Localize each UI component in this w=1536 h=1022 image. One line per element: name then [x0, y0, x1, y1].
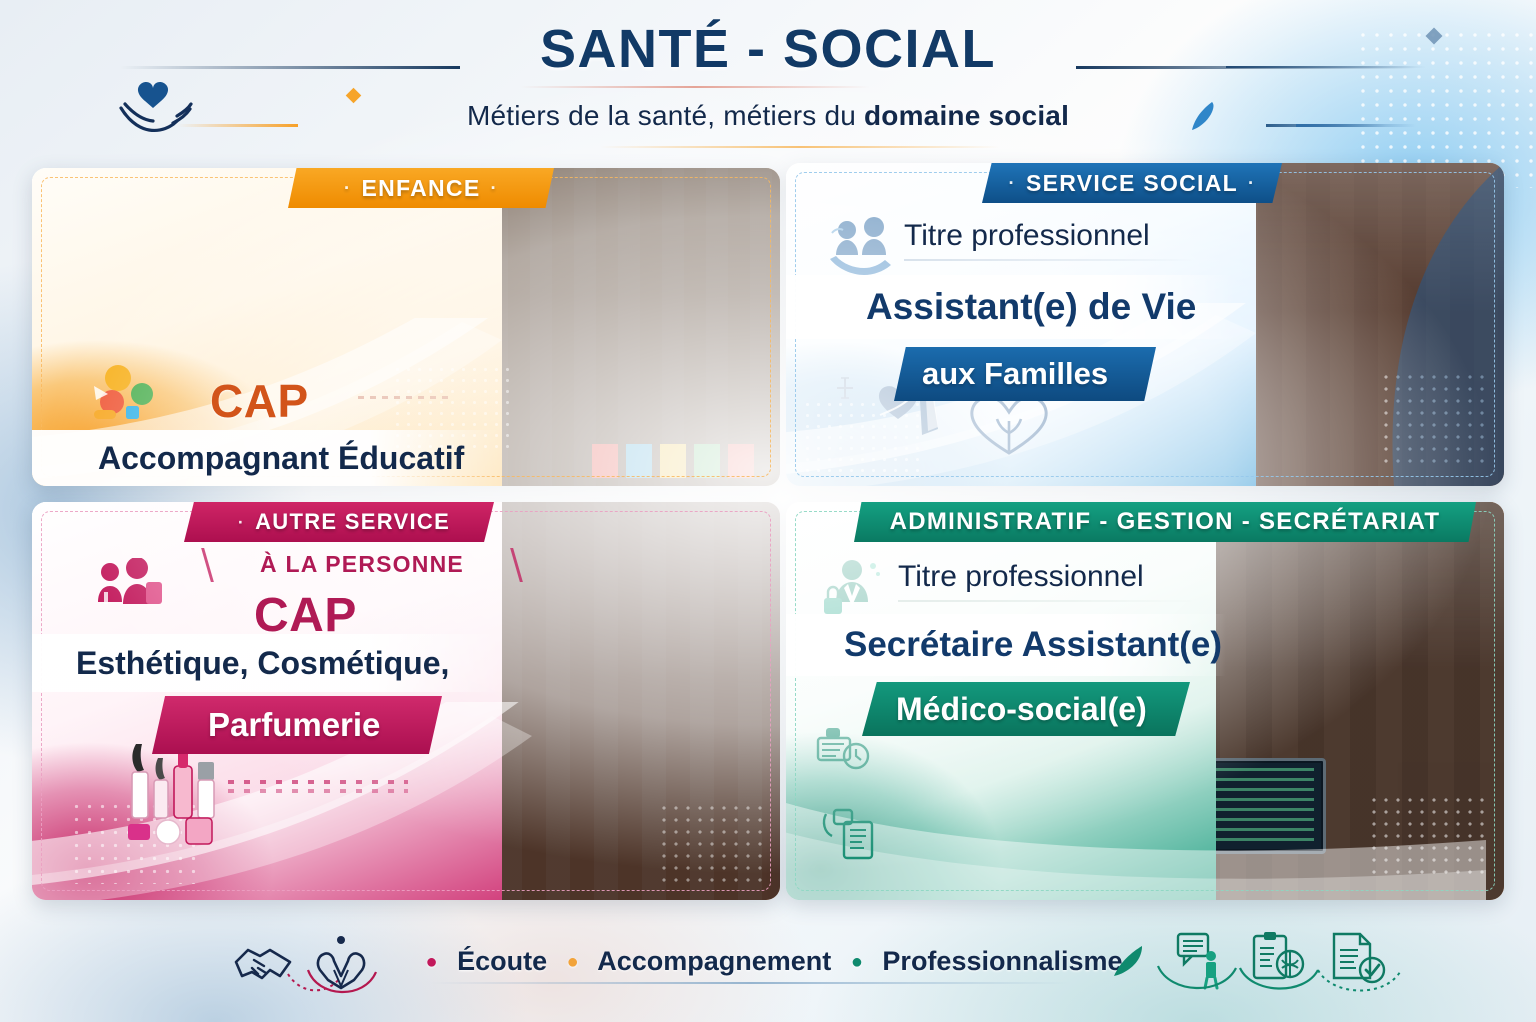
card-administratif-line1: Secrétaire Assistant(e)	[786, 625, 1222, 665]
card-autre-service-badge: · AUTRE SERVICE	[184, 502, 494, 542]
subtitle-part-1: Métiers de la santé,	[467, 100, 715, 131]
card-service-social[interactable]: · SERVICE SOCIAL ·	[786, 163, 1504, 486]
leaf-icon	[1188, 100, 1218, 134]
card-administratif-badge-label: ADMINISTRATIF - GESTION - SECRÉTARIAT	[890, 508, 1441, 536]
value-label-2: Accompagnement	[597, 946, 831, 976]
card-enfance-badge-label: ENFANCE	[361, 175, 480, 202]
value-label-1: Écoute	[457, 946, 547, 976]
leaf-icon	[1110, 944, 1146, 980]
card-service-social-badge: · SERVICE SOCIAL ·	[982, 163, 1282, 203]
card-autre-service-badge-line2-wrap: À LA PERSONNE	[212, 544, 512, 584]
poster-header: SANTÉ - SOCIAL Métiers de la santé, méti…	[0, 0, 1536, 160]
card-service-social-line1: Assistant(e) de Vie	[786, 286, 1196, 328]
care-hands-icon	[826, 215, 898, 281]
value-dot-1: ●	[425, 951, 437, 973]
badge-dot-right: ·	[1248, 172, 1255, 194]
card-autre-service-badge-label: AUTRE SERVICE	[255, 509, 450, 535]
card-autre-service-line2-slab: Parfumerie	[152, 696, 442, 754]
documents-icon	[820, 804, 882, 864]
page-title: SANTÉ - SOCIAL	[0, 18, 1536, 80]
medical-cross-icon	[832, 375, 858, 401]
card-enfance-badge: · ENFANCE ·	[288, 168, 554, 208]
card-service-social-kicker: Titre professionnel	[904, 219, 1150, 253]
card-service-social-line2: aux Familles	[894, 356, 1108, 392]
poster-footer: ● Écoute ● Accompagnement ● Professionna…	[0, 920, 1536, 1012]
card-enfance-line1: Accompagnant Éducatif	[32, 440, 464, 477]
card-administratif-line2-slab: Médico-social(e)	[862, 682, 1190, 736]
title-rule-left	[120, 66, 460, 69]
card-administratif[interactable]: ADMINISTRATIF - GESTION - SECRÉTARIAT	[786, 502, 1504, 900]
title-rule-right	[1076, 66, 1416, 69]
badge-dot-left: ·	[238, 512, 245, 533]
clipboard-health-icon	[1246, 930, 1308, 990]
subtitle-rule-left	[178, 124, 298, 127]
speech-person-icon	[1164, 930, 1226, 992]
card-service-social-badge-label: SERVICE SOCIAL	[1026, 170, 1238, 197]
card-autre-service-line2: Parfumerie	[152, 706, 380, 744]
beauty-people-icon	[92, 558, 166, 620]
subtitle-part-3: domaine social	[864, 100, 1069, 131]
subtitle-part-2: métiers du	[723, 100, 856, 131]
card-administratif-badge: ADMINISTRATIF - GESTION - SECRÉTARIAT	[854, 502, 1476, 542]
card-administratif-line2: Médico-social(e)	[862, 691, 1147, 728]
card-administratif-kicker: Titre professionnel	[898, 560, 1144, 594]
card-service-social-line1-band: Assistant(e) de Vie	[786, 275, 1236, 339]
card-autre-service-line1: Esthétique, Cosmétique,	[32, 645, 449, 682]
card-autre-service[interactable]: · AUTRE SERVICE À LA PERSONNE	[32, 502, 780, 900]
office-person-icon	[818, 556, 884, 622]
badge-dot-right: ·	[491, 177, 498, 199]
subtitle-rule-right	[1296, 124, 1416, 127]
title-accent-rule	[520, 86, 870, 88]
card-administratif-line1-band: Secrétaire Assistant(e)	[786, 614, 1226, 676]
kids-playing-icon	[92, 364, 162, 430]
value-label-3: Professionnalisme	[882, 946, 1122, 976]
card-autre-service-badge-line2: À LA PERSONNE	[260, 551, 464, 578]
card-enfance-cap: CAP	[210, 374, 309, 428]
poster-root: SANTÉ - SOCIAL Métiers de la santé, méti…	[0, 0, 1536, 1022]
card-enfance-line1-band: Accompagnant Éducatif	[32, 430, 502, 486]
card-service-social-line2-slab: aux Familles	[894, 347, 1156, 401]
badge-dot-left: ·	[1009, 172, 1016, 194]
footer-rule	[430, 982, 1070, 984]
subtitle-accent-rule	[600, 146, 1000, 148]
card-enfance[interactable]: · ENFANCE ·	[32, 168, 780, 486]
badge-dot-left: ·	[344, 177, 351, 199]
card-autre-service-line1-band: Esthétique, Cosmétique,	[32, 634, 502, 692]
value-dot-3: ●	[851, 951, 863, 973]
document-check-icon	[1326, 930, 1388, 990]
value-dot-2: ●	[567, 951, 579, 973]
page-subtitle: Métiers de la santé, métiers du domaine …	[0, 100, 1536, 132]
